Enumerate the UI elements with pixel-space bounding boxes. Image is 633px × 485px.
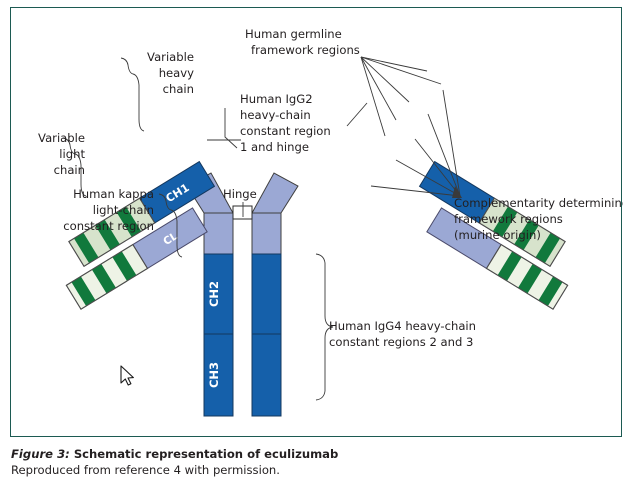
annotation-line: framework regions [251,43,360,57]
shoulder-right [252,173,298,213]
ch3-label: CH3 [207,362,221,388]
annotation-line: constant region [63,219,154,233]
figure-caption-credit: Reproduced from reference 4 with permiss… [11,463,611,478]
annotation-line: light-chain [93,203,154,217]
mouse-cursor [121,366,133,385]
annotation-line: Human IgG2 [240,92,313,106]
annotation-line: Complementarity determining [454,196,623,210]
annotation-line: Human kappa [73,187,154,201]
annotation-human-germline-framework-regions: Human germline framework regions [245,27,360,57]
annotation-line: 1 and hinge [240,140,309,154]
leaders-human-germline-framework [361,57,441,136]
annotation-line: chain [54,163,85,177]
figure-number: Figure 3: [11,447,70,461]
figure-caption-title: Figure 3: Schematic representation of ec… [11,447,611,462]
ch3-domain-right [252,334,281,416]
hinge-bridge [233,206,252,219]
annotation-line: (murine origin) [454,228,541,242]
annotation-line: framework regions [454,212,563,226]
annotation-line: Variable [147,50,194,64]
annotation-line: constant regions 2 and 3 [329,335,473,349]
annotation-line: heavy-chain [240,108,311,122]
ch2-domain-right [252,254,281,334]
fc-stem-right-strand [252,173,298,416]
ch2-label: CH2 [207,281,221,307]
annotation-variable-heavy-chain: Variable heavy chain [147,50,194,96]
annotation-line: chain [163,82,194,96]
annotation-line: Variable [38,131,85,145]
fc-stem: CH2 CH3 [187,173,298,416]
annotation-hinge: Hinge [223,187,257,201]
annotation-line: heavy [159,66,194,80]
annotation-variable-light-chain: Variable light chain [38,131,85,177]
annotation-human-igg2-heavy-chain-constant-region: Human IgG2 heavy-chain constant region 1… [240,92,331,154]
figure-frame: CH2 CH3 CH1 CL [10,7,622,437]
annotation-line: light [59,147,85,161]
annotation-line: Hinge [223,187,257,201]
annotation-human-kappa-light-chain-constant-region: Human kappa light-chain constant region [63,187,154,233]
leader-igg2-ch1-left [225,108,237,148]
hinge-segment-right [252,213,281,254]
annotation-human-igg4-heavy-chain-constant-regions: Human IgG4 heavy-chain constant regions … [329,319,476,349]
annotation-line: constant region [240,124,331,138]
figure-title-text: Schematic representation of eculizumab [70,447,339,461]
annotation-complementarity-determining-framework-regions: Complementarity determining framework re… [454,196,623,242]
brace-variable-heavy-chain [121,58,144,131]
leader-igg2-ch1-right [347,103,367,126]
annotation-line: Human germline [245,27,342,41]
antibody-schematic-diagram: CH2 CH3 CH1 CL [11,8,623,438]
hinge-segment-left [204,213,233,254]
annotation-line: Human IgG4 heavy-chain [329,319,476,333]
